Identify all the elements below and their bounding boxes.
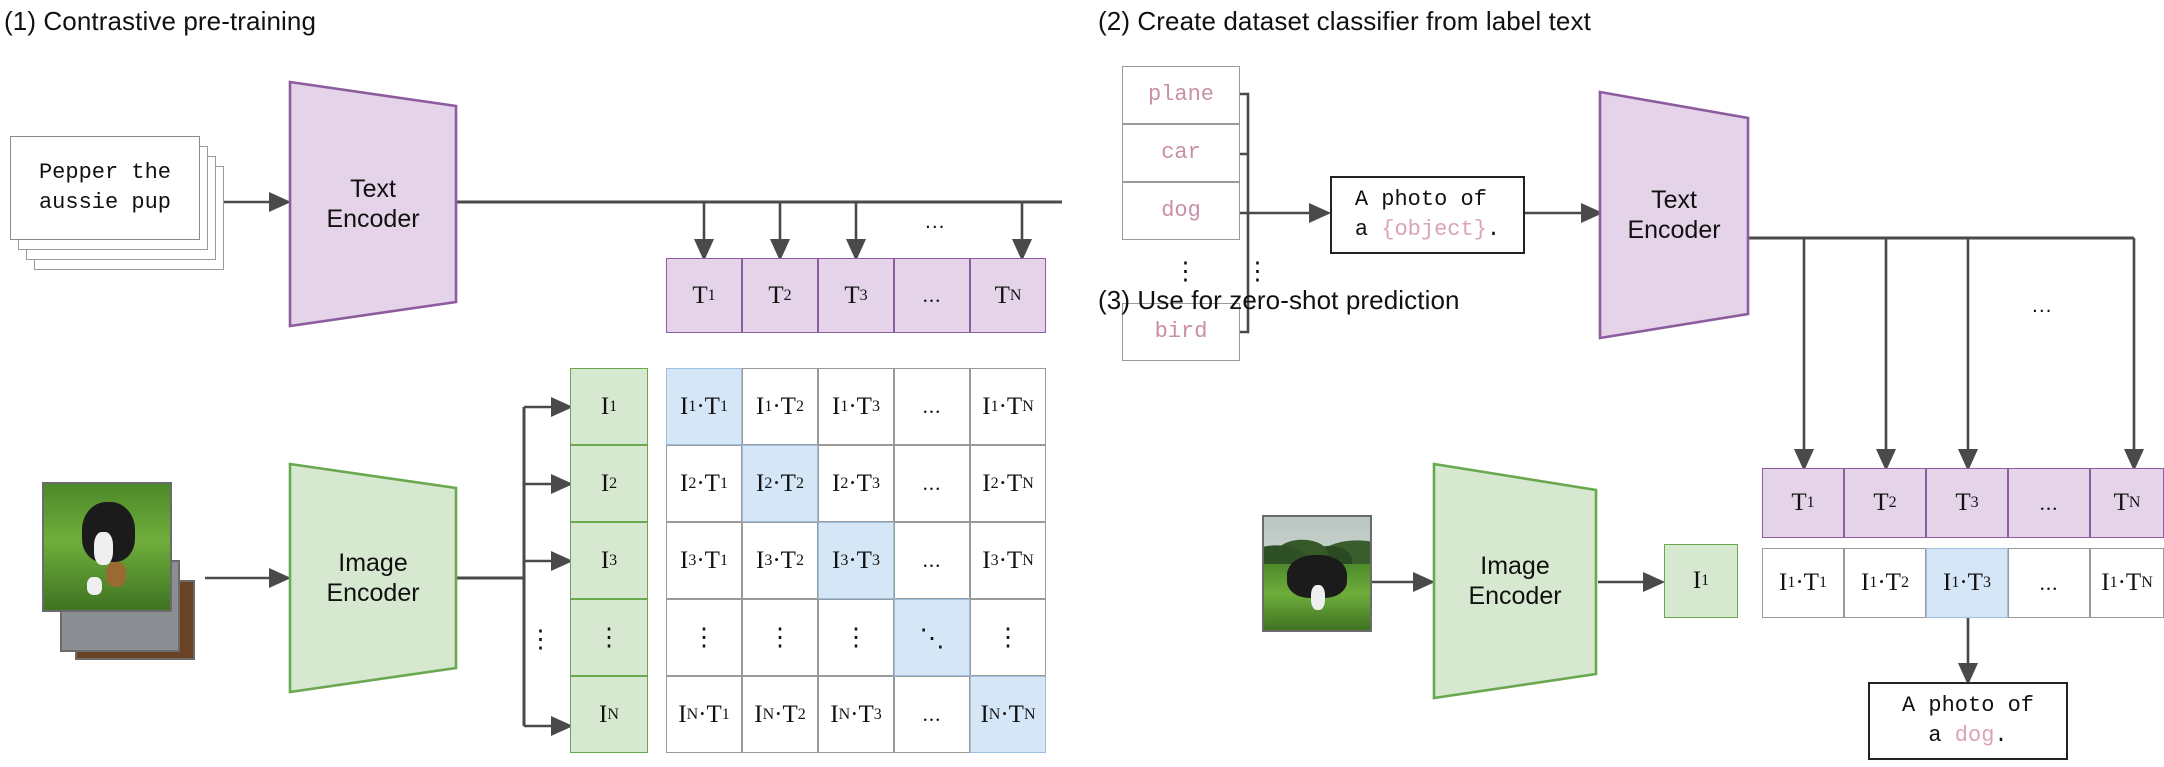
image-embedding-I2: I2 [570,445,648,522]
text-sample-box: Pepper the aussie pup [10,136,200,240]
zeroshot-image-embedding-I1: I1 [1664,544,1738,618]
matrix-cell-1-3: I1·T3 [818,368,894,445]
matrix-cell-4-1: ⋮ [666,599,742,676]
text-embedding-T2: T2 [742,258,818,333]
label-text-dog: dog [1161,196,1201,226]
matrix-cell-5-4: ... [894,676,970,753]
matrix-cell-5-3: IN·T3 [818,676,894,753]
zeroshot-score-2: I1·T2 [1844,548,1926,618]
image-encoder-p1-line2: Encoder [326,578,419,608]
label-text-car: car [1161,138,1201,168]
panel-2-title: (2) Create dataset classifier from label… [1098,6,1591,37]
prompt-line1: A photo of [1355,185,1500,215]
text-embedding-ellipsis: ... [894,258,970,333]
image-sample-stack-1 [42,482,172,612]
image-encoder-p1[interactable]: Image Encoder [288,462,458,694]
matrix-cell-5-2: IN·T2 [742,676,818,753]
label-text-bird: bird [1155,317,1208,347]
matrix-cell-3-3: I3·T3 [818,522,894,599]
label-list-vdots-right: ⋮ [1245,262,1270,280]
label-box-dog[interactable]: dog [1122,182,1240,240]
text-encoder-p2-line1: Text [1627,185,1720,215]
label-box-plane[interactable]: plane [1122,66,1240,124]
image-embedding-I1: I1 [570,368,648,445]
label-text-plane: plane [1148,80,1214,110]
zeroshot-T-ellipsis: ... [2008,468,2090,538]
text-encoder-p2-line2: Encoder [1627,215,1720,245]
image-embedding-I3: I3 [570,522,648,599]
matrix-cell-2-4: ... [894,445,970,522]
prediction-object-word: dog [1955,723,1995,748]
image-embedding-IN: IN [570,676,648,753]
text-encoder-p1[interactable]: Text Encoder [288,80,458,328]
zeroshot-T1: T1 [1762,468,1844,538]
matrix-cell-4-4: ⋱ [894,599,970,676]
diagram-canvas: (1) Contrastive pre-training Pepper the … [0,0,2164,767]
matrix-cell-2-1: I2·T1 [666,445,742,522]
matrix-cell-1-5: I1·TN [970,368,1046,445]
matrix-cell-3-2: I3·T2 [742,522,818,599]
matrix-cell-2-2: I2·T2 [742,445,818,522]
matrix-cell-4-5: ⋮ [970,599,1046,676]
prompt-object-slot: {object} [1381,217,1487,242]
prediction-line2-suffix: . [1994,723,2007,748]
text-sample-line2: aussie pup [39,188,171,218]
image-encoder-p3[interactable]: Image Encoder [1432,462,1598,700]
panel-1-title: (1) Contrastive pre-training [4,6,316,37]
image-bus-vdots: ⋮ [528,630,553,648]
text-embedding-T1: T1 [666,258,742,333]
matrix-cell-4-2: ⋮ [742,599,818,676]
zeroshot-score-4: ... [2008,548,2090,618]
image-encoder-p3-line2: Encoder [1468,581,1561,611]
text-embedding-T3: T3 [818,258,894,333]
zeroshot-score-3: I1·T3 [1926,548,2008,618]
zeroshot-T3: T3 [1926,468,2008,538]
text-bus-ellipsis-p2: ... [2032,294,2053,318]
matrix-cell-3-1: I3·T1 [666,522,742,599]
matrix-cell-5-5: IN·TN [970,676,1046,753]
image-encoder-p1-line1: Image [326,548,419,578]
text-encoder-p1-line1: Text [326,174,419,204]
prediction-line1: A photo of [1902,691,2034,721]
text-encoder-p2[interactable]: Text Encoder [1598,90,1750,340]
matrix-cell-2-5: I2·TN [970,445,1046,522]
matrix-cell-3-4: ... [894,522,970,599]
prompt-template-box[interactable]: A photo of a {object}. [1330,176,1525,254]
panel-3-title: (3) Use for zero-shot prediction [1098,285,1460,316]
label-box-car[interactable]: car [1122,124,1240,182]
prediction-box: A photo of a dog. [1868,682,2068,760]
zeroshot-input-photo [1262,515,1372,632]
label-list-vdots-left: ⋮ [1173,262,1198,280]
text-bus-ellipsis-p1: ... [925,210,946,234]
prediction-line2-prefix: a [1928,723,1954,748]
matrix-cell-3-5: I3·TN [970,522,1046,599]
zeroshot-score-5: I1·TN [2090,548,2164,618]
image-embedding-vdots: ⋮ [570,599,648,676]
matrix-cell-1-1: I1·T1 [666,368,742,445]
text-sample-line1: Pepper the [39,158,171,188]
text-encoder-p1-line2: Encoder [326,204,419,234]
prompt-line2-prefix: a [1355,217,1381,242]
matrix-cell-5-1: IN·T1 [666,676,742,753]
zeroshot-TN: TN [2090,468,2164,538]
matrix-cell-1-4: ... [894,368,970,445]
matrix-cell-4-3: ⋮ [818,599,894,676]
zeroshot-score-1: I1·T1 [1762,548,1844,618]
text-embedding-TN: TN [970,258,1046,333]
image-encoder-p3-line1: Image [1468,551,1561,581]
matrix-cell-1-2: I1·T2 [742,368,818,445]
zeroshot-T2: T2 [1844,468,1926,538]
matrix-cell-2-3: I2·T3 [818,445,894,522]
prompt-line2-suffix: . [1487,217,1500,242]
